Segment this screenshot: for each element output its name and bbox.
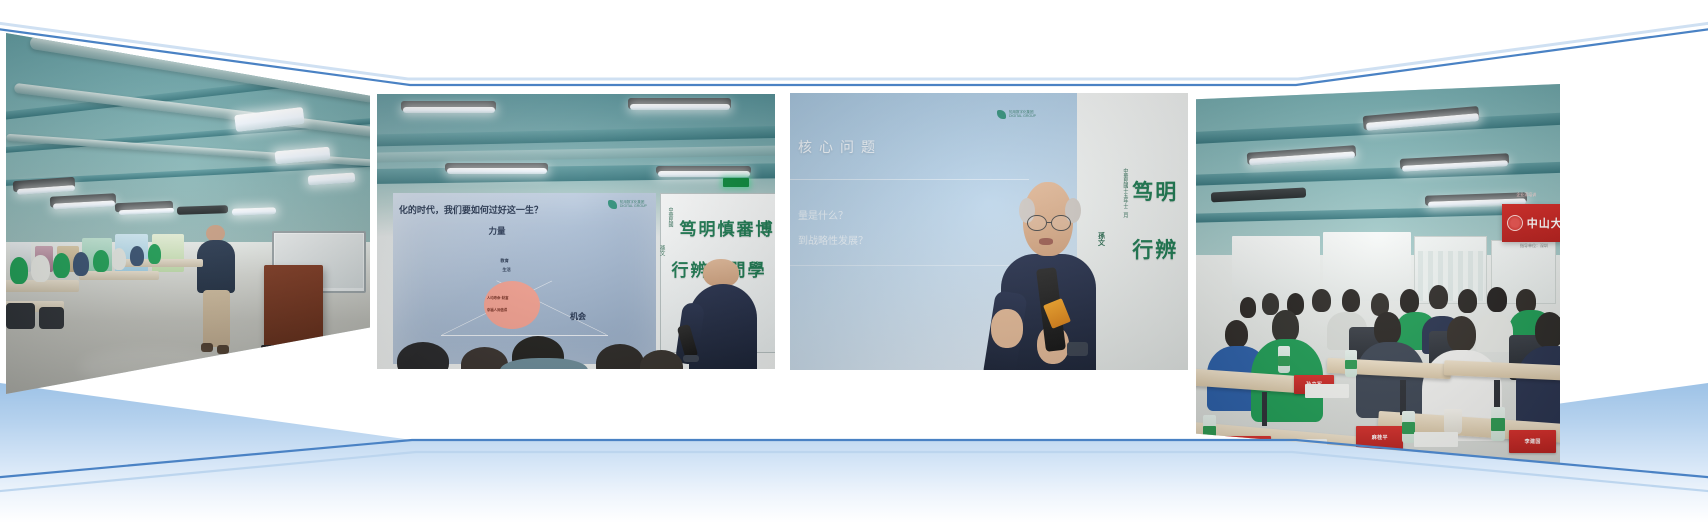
photo-audience-seated[interactable]: 中山大学 · 深圳 企业家培训 指导单位：深圳 — [1196, 84, 1560, 464]
slide-logo: 知用数字化集团 DIGITAL GROUP — [997, 110, 1036, 119]
student — [31, 255, 49, 282]
audience-dark-polo — [1356, 342, 1425, 418]
audience-head — [1447, 316, 1476, 352]
bottle-label — [1491, 418, 1505, 430]
table-leg — [1262, 392, 1268, 426]
circle-label-1: 人均寿命·财富 — [487, 295, 509, 300]
eyeglass-bridge — [1047, 222, 1053, 223]
calligraphy-side-note: 中華民國 — [668, 207, 675, 251]
slide-bullet-1: 量是什么？ — [798, 207, 848, 222]
desk-row — [79, 271, 159, 281]
wristwatch — [683, 355, 699, 362]
student — [73, 252, 89, 276]
wristwatch — [1067, 342, 1089, 356]
slide-title: 化的时代，我们要如何过好这一生？ — [399, 203, 543, 216]
instructor-torso — [197, 240, 235, 293]
slide-center-circle — [484, 281, 540, 329]
brand-mark-icon — [997, 110, 1006, 119]
chair — [6, 303, 35, 330]
university-seal-icon — [1507, 215, 1523, 231]
brand-mark-icon — [608, 200, 617, 209]
ceiling-light — [403, 107, 495, 113]
audience-head — [1487, 287, 1507, 311]
banner-subtitle-bottom: 指导单位：深圳 — [1520, 243, 1548, 249]
audience-head — [1240, 297, 1257, 318]
student — [148, 244, 161, 264]
bottle-label — [1345, 360, 1357, 370]
name-placard: 麻桂平 — [1356, 426, 1403, 449]
slide-caption-line — [429, 238, 430, 242]
circle-label-2: 幸福人间值得 — [487, 307, 507, 312]
ceiling-light — [177, 205, 228, 215]
banner-subtitle-top: 企业家培训 — [1516, 192, 1536, 198]
student — [93, 250, 108, 273]
audience-head — [1374, 312, 1400, 345]
audience-head — [1342, 289, 1360, 312]
audience-head — [1535, 312, 1560, 348]
calligraphy-side-note: 中華民國十五年十二月 — [1122, 168, 1129, 257]
slide-divider — [790, 179, 1029, 180]
window-blind — [1232, 236, 1319, 301]
slide-node-top: 力量 — [488, 225, 505, 237]
audience-head — [1312, 289, 1330, 312]
ceiling-light — [232, 207, 276, 216]
student — [10, 257, 28, 284]
calligraphy-line-2: 行辨 — [1132, 234, 1178, 264]
photo-lecture-slide-model[interactable]: 化的时代，我们要如何过好这一生？ 知用数字化集团 DIGITAL GROUP 力… — [377, 94, 775, 369]
student — [53, 253, 70, 278]
eyeglass-lens — [1051, 215, 1071, 232]
bottle-label — [1402, 422, 1415, 433]
slide-node-center-top2: 生活 — [502, 267, 510, 273]
audience-head — [1272, 310, 1298, 343]
student — [130, 246, 144, 267]
brand-text: 知用数字化集团 DIGITAL GROUP — [620, 200, 647, 209]
instructor-shoe — [201, 343, 213, 352]
slide-title: 核心问题 — [798, 137, 882, 157]
window-blind — [1323, 232, 1410, 300]
audience-shoulder — [1476, 314, 1512, 352]
bottle-label — [1278, 356, 1290, 366]
slide-logo: 知用数字化集团 DIGITAL GROUP — [608, 200, 647, 209]
speaker-head — [703, 259, 739, 287]
brand-text: 知用数字化集团 DIGITAL GROUP — [1009, 110, 1036, 119]
audience-head — [1262, 293, 1279, 315]
student — [112, 248, 127, 270]
chair — [39, 307, 64, 330]
calligraphy-line-1: 笃明 — [1132, 176, 1178, 206]
audience-head — [1400, 289, 1419, 313]
eyeglass-lens — [1027, 215, 1047, 232]
instructor-legs — [203, 290, 230, 347]
ceiling-light — [658, 171, 750, 177]
paper-cup — [1444, 409, 1462, 434]
audience-head — [1458, 289, 1477, 313]
speaker-mouth — [1039, 238, 1053, 245]
calligraphy-line-1: 笃明慎審博 — [679, 215, 774, 240]
slide-node-center-top: 教育 — [500, 258, 508, 264]
calligraphy-seal: 孫文 — [1096, 232, 1106, 271]
table-leg — [1400, 380, 1406, 414]
exit-sign — [723, 178, 749, 187]
audience-navy-polo — [1516, 346, 1560, 430]
event-banner[interactable]: 中山大学 · 深圳 — [1502, 204, 1560, 242]
ceiling-light — [447, 168, 547, 174]
name-placard: 李建国 — [1509, 430, 1556, 453]
instructor-shoe — [217, 345, 229, 354]
gallery-stage: 化的时代，我们要如何过好这一生？ 知用数字化集团 DIGITAL GROUP 力… — [0, 0, 1708, 523]
audience-head — [1225, 320, 1248, 349]
slide-node-right: 机会 — [570, 311, 586, 322]
speaker-hand — [991, 309, 1023, 348]
calligraphy-seal: 孫文 — [658, 245, 666, 278]
triangle-base — [441, 335, 608, 336]
document-sheet — [1414, 432, 1458, 447]
photo-speaker-with-microphone[interactable]: 知用数字化集团 DIGITAL GROUP 核心问题 量是什么？ 到战略性发展？… — [790, 93, 1188, 370]
event-banner-text: 中山大学 · 深圳 — [1527, 215, 1560, 231]
photo-content: 知用数字化集团 DIGITAL GROUP 核心问题 量是什么？ 到战略性发展？… — [790, 93, 1188, 370]
slide-bullet-2: 到战略性发展？ — [798, 232, 868, 247]
audience-head — [1429, 285, 1448, 309]
ceiling-light — [630, 104, 730, 111]
photo-content: 中山大学 · 深圳 企业家培训 指导单位：深圳 — [1196, 84, 1560, 464]
slide-divider — [790, 265, 1021, 266]
photo-content: 化的时代，我们要如何过好这一生？ 知用数字化集团 DIGITAL GROUP 力… — [377, 94, 775, 369]
document-sheet — [1305, 384, 1349, 398]
podium — [264, 265, 322, 349]
